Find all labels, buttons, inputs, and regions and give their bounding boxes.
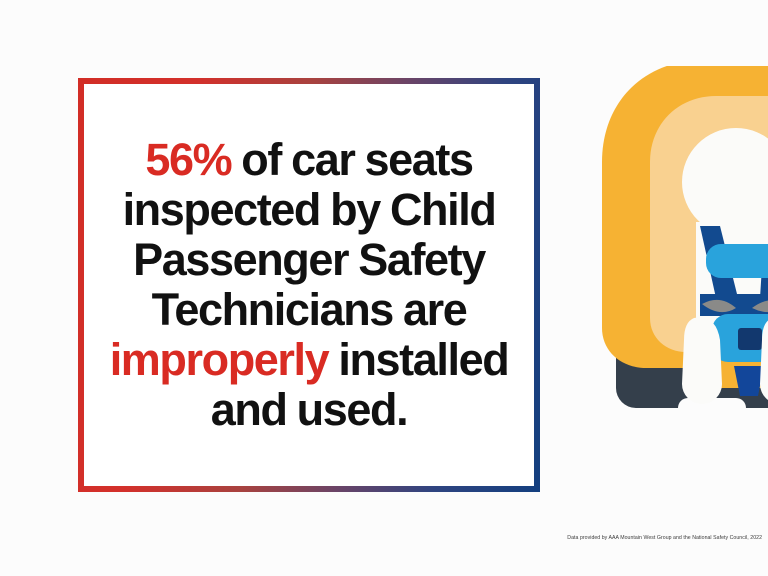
- harness-chest-clip-icon: [706, 244, 768, 278]
- statistic-value: 56%: [145, 134, 231, 185]
- statement-card-inner: 56% of car seats inspected by Child Pass…: [84, 84, 534, 486]
- statistic-emphasis: improperly: [110, 334, 329, 385]
- child-car-seat-illustration: [596, 66, 768, 426]
- page-title: 56% of car seats inspected by Child Pass…: [84, 135, 534, 435]
- infographic-canvas: 56% of car seats inspected by Child Pass…: [0, 0, 768, 576]
- data-source-credit: Data provided by AAA Mountain West Group…: [548, 535, 762, 542]
- statement-card-frame: 56% of car seats inspected by Child Pass…: [78, 78, 540, 492]
